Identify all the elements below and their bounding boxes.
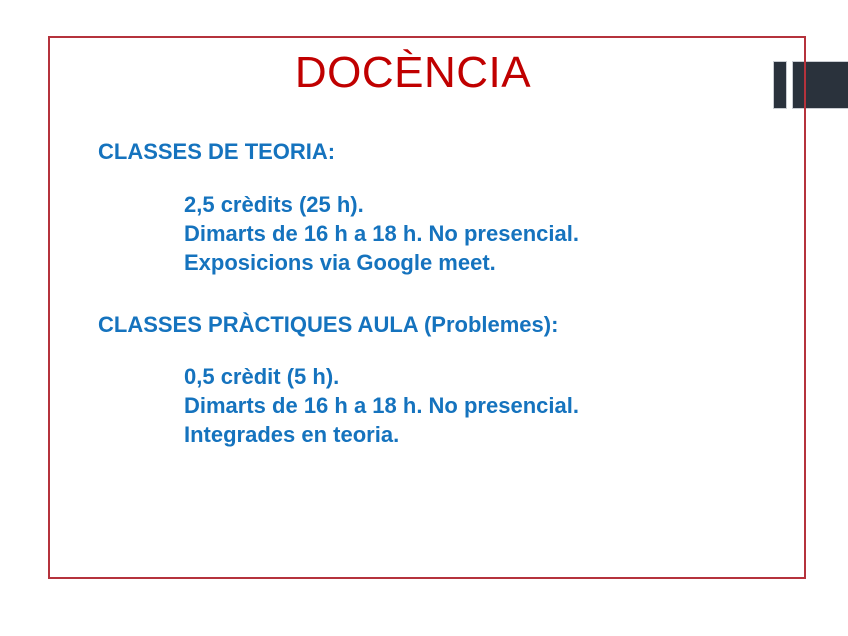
detail-line-teoria-format: Exposicions via Google meet. [184,248,778,277]
slide-body: CLASSES DE TEORIA: 2,5 crèdits (25 h). D… [98,138,778,449]
section-teoria: CLASSES DE TEORIA: 2,5 crèdits (25 h). D… [98,138,778,277]
detail-line-practiques-format: Integrades en teoria. [184,420,778,449]
detail-line-teoria-credits: 2,5 crèdits (25 h). [184,190,778,219]
detail-list-teoria: 2,5 crèdits (25 h). Dimarts de 16 h a 18… [184,190,778,277]
section-heading-teoria: CLASSES DE TEORIA: [98,138,778,166]
detail-line-practiques-schedule: Dimarts de 16 h a 18 h. No presencial. [184,391,778,420]
detail-list-practiques: 0,5 crèdit (5 h). Dimarts de 16 h a 18 h… [184,362,778,449]
section-practiques: CLASSES PRÀCTIQUES AULA (Problemes): 0,5… [98,311,778,450]
section-spacer [98,277,778,311]
detail-line-teoria-schedule: Dimarts de 16 h a 18 h. No presencial. [184,219,778,248]
slide-title: DOCÈNCIA [48,50,778,96]
detail-line-practiques-credits: 0,5 crèdit (5 h). [184,362,778,391]
section-heading-practiques: CLASSES PRÀCTIQUES AULA (Problemes): [98,311,778,339]
slide-canvas: DOCÈNCIA CLASSES DE TEORIA: 2,5 crèdits … [0,0,848,636]
